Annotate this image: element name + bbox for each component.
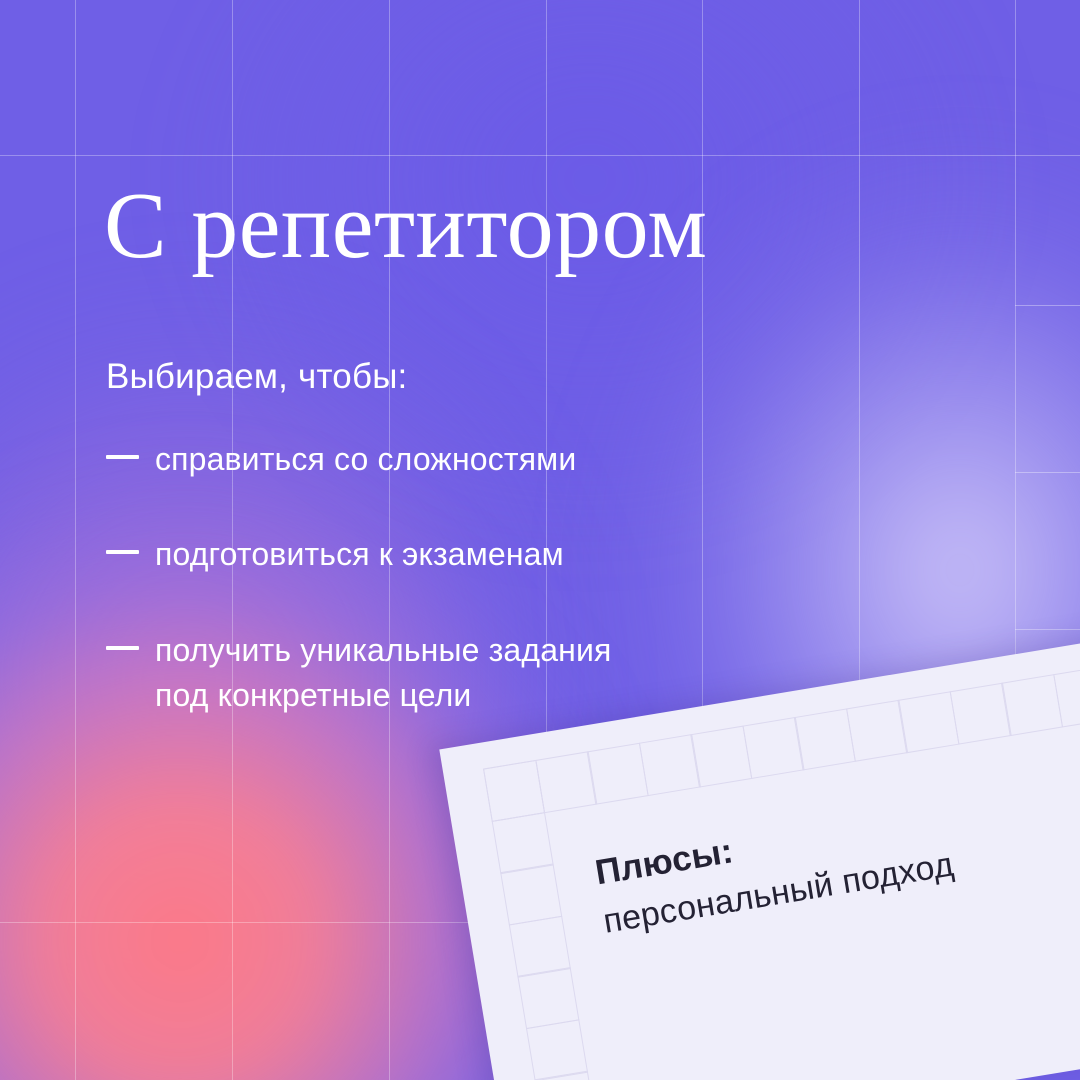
bullet-list: справиться со сложностями подготовиться … [106, 437, 906, 719]
list-item-label: подготовиться к экзаменам [155, 532, 564, 577]
grid-cell [526, 1019, 588, 1080]
dash-bullet-icon [106, 455, 139, 459]
lead-text: Выбираем, чтобы: [106, 357, 407, 397]
page-title: С репетитором [104, 178, 707, 276]
list-item-label: справиться со сложностями [155, 437, 576, 482]
card-grid-cells-left [483, 760, 599, 1080]
list-item: справиться со сложностями [106, 437, 906, 482]
dash-bullet-icon [106, 646, 139, 650]
list-item-label: получить уникальные задания под конкретн… [155, 628, 611, 719]
list-item: подготовиться к экзаменам [106, 532, 906, 577]
dash-bullet-icon [106, 550, 139, 554]
slide-canvas: С репетитором Выбираем, чтобы: справитьс… [0, 0, 1080, 1080]
